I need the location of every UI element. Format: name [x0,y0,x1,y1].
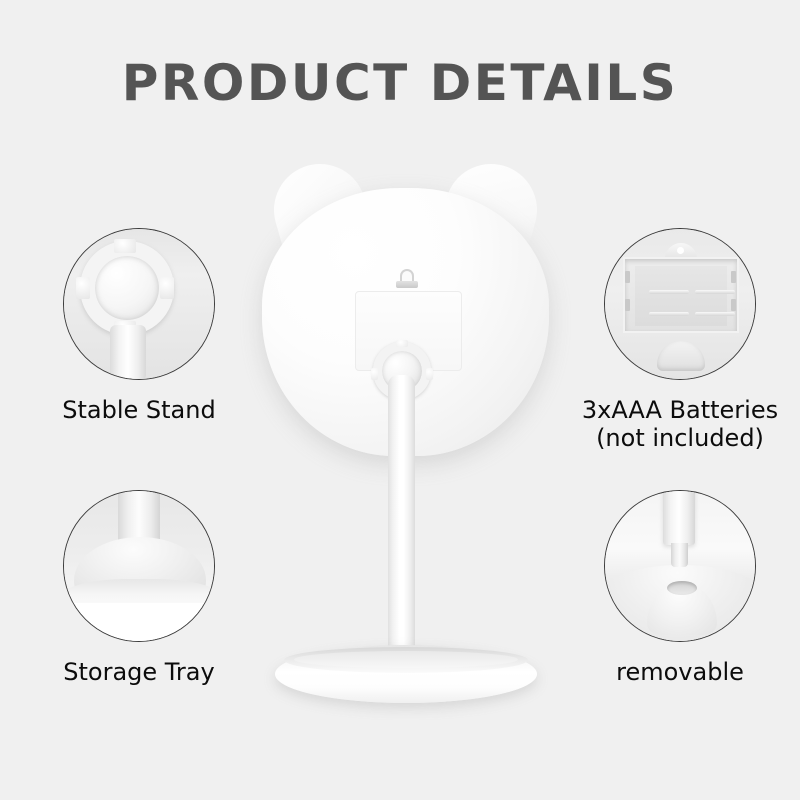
latch-bar [396,281,418,288]
stand-zoom-stem [110,325,146,380]
battery-contact [731,299,736,311]
callout-circle-batteries [604,228,756,380]
callout-circle-storage-tray [63,490,215,642]
battery-divider [649,290,689,294]
battery-contact [625,299,630,311]
support-pole [388,375,415,665]
callout-label-removable: removable [564,658,796,686]
removable-zoom-socket-hole [667,581,697,595]
callout-removable: removable [604,490,756,642]
battery-divider [695,290,735,294]
battery-door-latch [396,269,418,289]
stand-zoom-notch-top [114,239,136,253]
battery-contact [625,271,630,283]
battery-compartment-box [623,257,739,333]
tray-zoom-edge [63,603,215,642]
callout-storage-tray: Storage Tray [63,490,215,642]
callout-label-line: Storage Tray [23,658,255,686]
product-illustration [240,150,570,710]
battery-well [635,266,727,326]
removable-zoom-pole-tip [671,543,688,567]
collar-notch-right [426,368,433,380]
callout-batteries: 3xAAA Batteries (not included) [604,228,756,380]
stand-zoom-notch-right [160,277,174,299]
collar-notch-top [396,340,408,347]
battery-door-tab-dot [677,247,684,254]
page-title: PRODUCT DETAILS [0,58,800,108]
callout-label-stable-stand: Stable Stand [23,396,255,424]
callout-label-line: Stable Stand [23,396,255,424]
callout-label-batteries: 3xAAA Batteries (not included) [564,396,796,453]
callout-stable-stand: Stable Stand [63,228,215,380]
battery-contact [731,271,736,283]
removable-zoom-pole [663,490,695,545]
callout-label-line: (not included) [564,424,796,452]
callout-circle-stable-stand [63,228,215,380]
callout-label-storage-tray: Storage Tray [23,658,255,686]
storage-tray-inner [294,651,518,668]
callout-label-line: 3xAAA Batteries [564,396,796,424]
battery-divider [649,312,689,316]
stand-zoom-notch-left [76,277,90,299]
collar-notch-left [371,368,378,380]
callout-label-line: removable [564,658,796,686]
battery-divider [695,312,735,316]
product-details-page: PRODUCT DETAILS [0,0,800,800]
callout-circle-removable [604,490,756,642]
